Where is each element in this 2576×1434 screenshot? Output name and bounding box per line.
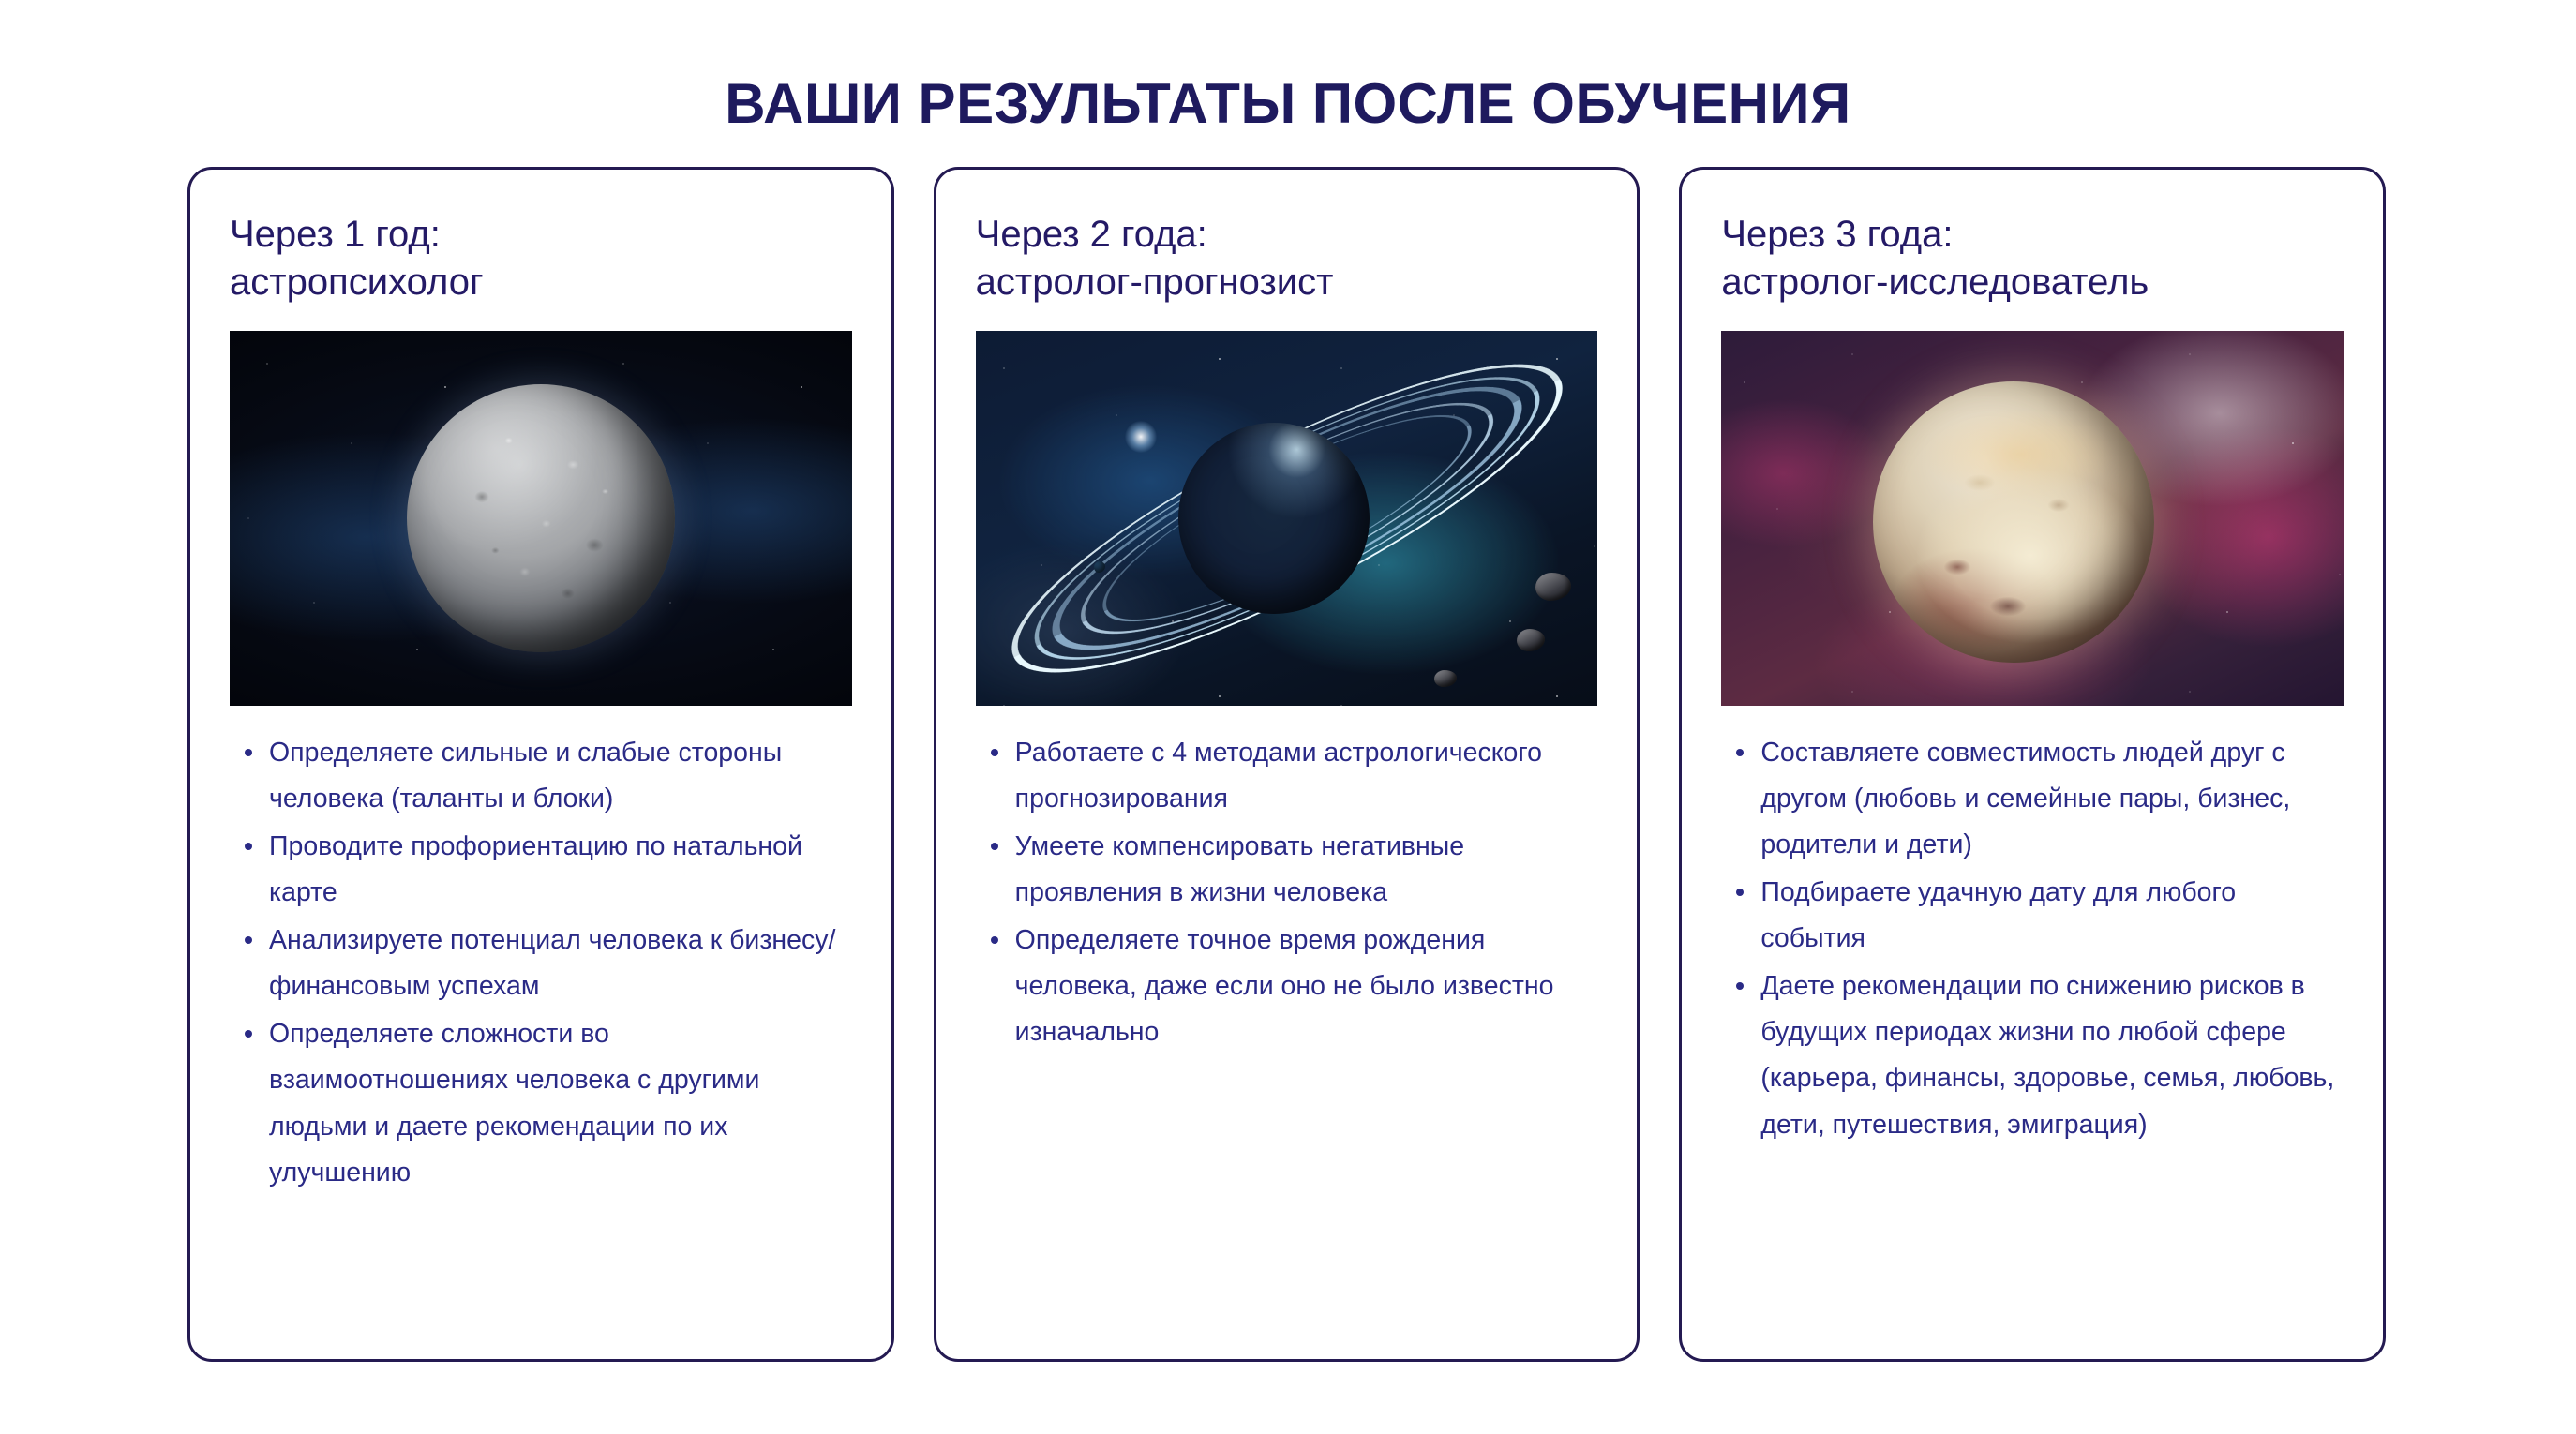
result-card-year-1: Через 1 год: астропсихолог Определяете с… — [187, 167, 894, 1362]
ringed-planet-sphere — [1178, 423, 1370, 614]
ringed-planet-image — [976, 331, 1598, 706]
mercury-planet-sphere — [407, 384, 675, 652]
card-title: Через 1 год: астропсихолог — [230, 211, 852, 306]
list-item: Определяете сильные и слабые стороны чел… — [269, 730, 852, 822]
mercury-planet-image — [230, 331, 852, 706]
list-item: Проводите профориентацию по натальной ка… — [269, 824, 852, 916]
pluto-planet-sphere — [1873, 381, 2154, 663]
list-item: Умеете компенсировать негативные проявле… — [1015, 824, 1598, 916]
list-item: Составляете совместимость людей друг с д… — [1760, 730, 2344, 868]
list-item: Даете рекомендации по снижению рисков в … — [1760, 963, 2344, 1147]
benefits-list: Работаете с 4 методами астрологического … — [976, 730, 1598, 1057]
list-item: Определяете сложности во взаимоотношения… — [269, 1011, 852, 1195]
page-title: ВАШИ РЕЗУЛЬТАТЫ ПОСЛЕ ОБУЧЕНИЯ — [0, 71, 2576, 136]
crater-texture — [407, 384, 675, 652]
surface-texture — [1873, 381, 2154, 663]
list-item: Анализируете потенциал человека к бизнес… — [269, 918, 852, 1009]
list-item: Подбираете удачную дату для любого событ… — [1760, 870, 2344, 962]
benefits-list: Составляете совместимость людей друг с д… — [1721, 730, 2344, 1149]
results-cards-row: Через 1 год: астропсихолог Определяете с… — [187, 167, 2386, 1362]
pluto-planet-image — [1721, 331, 2344, 706]
card-title: Через 2 года: астролог-прогнозист — [976, 211, 1598, 306]
result-card-year-2: Через 2 года: астролог-прогнозист — [934, 167, 1640, 1362]
benefits-list: Определяете сильные и слабые стороны чел… — [230, 730, 852, 1197]
result-card-year-3: Через 3 года: астролог-исследователь Сос… — [1679, 167, 2386, 1362]
card-title: Через 3 года: астролог-исследователь — [1721, 211, 2344, 306]
list-item: Работаете с 4 методами астрологического … — [1015, 730, 1598, 822]
list-item: Определяете точное время рождения челове… — [1015, 918, 1598, 1055]
